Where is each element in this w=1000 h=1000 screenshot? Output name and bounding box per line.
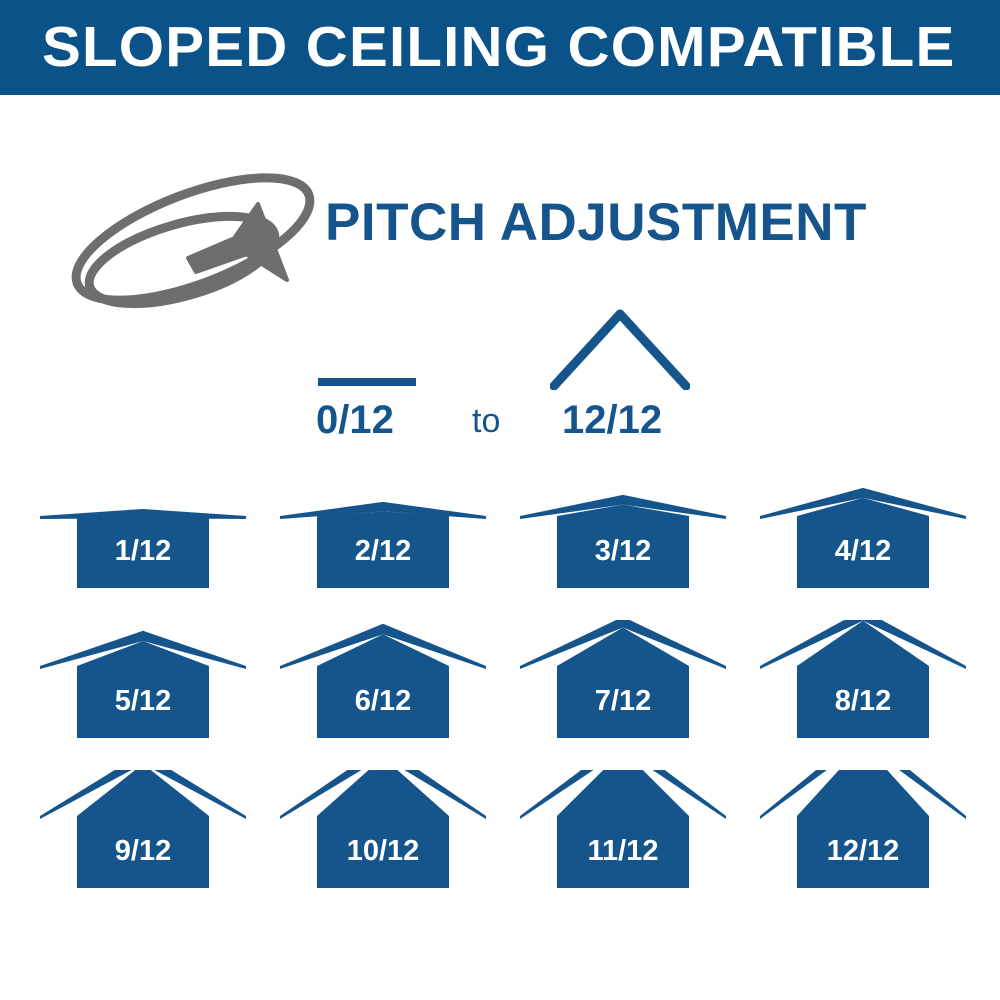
house-icon	[23, 620, 263, 770]
house-item: 7/12	[503, 620, 743, 770]
house-icon	[503, 770, 743, 920]
house-icon	[263, 620, 503, 770]
house-item: 10/12	[263, 770, 503, 920]
house-item: 11/12	[503, 770, 743, 920]
house-icon	[503, 470, 743, 620]
house-pitch-grid: 1/12 2/12 3/12 4/12 5/12 6/12	[0, 470, 1000, 930]
section-heading: PITCH ADJUSTMENT	[325, 196, 867, 249]
house-icon	[263, 770, 503, 920]
house-icon	[23, 770, 263, 920]
house-item: 6/12	[263, 620, 503, 770]
house-item: 4/12	[743, 470, 983, 620]
pitch-range-connector: to	[472, 404, 500, 438]
house-icon	[263, 470, 503, 620]
house-row: 5/12 6/12 7/12 8/12	[0, 620, 1000, 770]
house-item: 9/12	[23, 770, 263, 920]
pitch-range-max-label: 12/12	[562, 400, 662, 440]
house-row: 9/12 10/12 11/12 12/12	[0, 770, 1000, 920]
ceiling-fan-icon	[62, 148, 324, 330]
pitch-range-min-label: 0/12	[316, 400, 394, 440]
house-item: 2/12	[263, 470, 503, 620]
house-icon	[503, 620, 743, 770]
house-item: 12/12	[743, 770, 983, 920]
flat-roof-line-icon	[318, 378, 416, 386]
peaked-roof-line-icon	[550, 306, 690, 390]
house-item: 1/12	[23, 470, 263, 620]
house-item: 8/12	[743, 620, 983, 770]
house-icon	[23, 470, 263, 620]
pitch-range: 0/12 to 12/12	[300, 300, 720, 450]
infographic-page: SLOPED CEILING COMPATIBLE PITCH ADJUSTME…	[0, 0, 1000, 1000]
house-row: 1/12 2/12 3/12 4/12	[0, 470, 1000, 620]
page-title: SLOPED CEILING COMPATIBLE	[42, 19, 955, 76]
header-banner: SLOPED CEILING COMPATIBLE	[0, 0, 1000, 95]
house-item: 3/12	[503, 470, 743, 620]
house-item: 5/12	[23, 620, 263, 770]
house-icon	[743, 620, 983, 770]
house-icon	[743, 770, 983, 920]
house-icon	[743, 470, 983, 620]
